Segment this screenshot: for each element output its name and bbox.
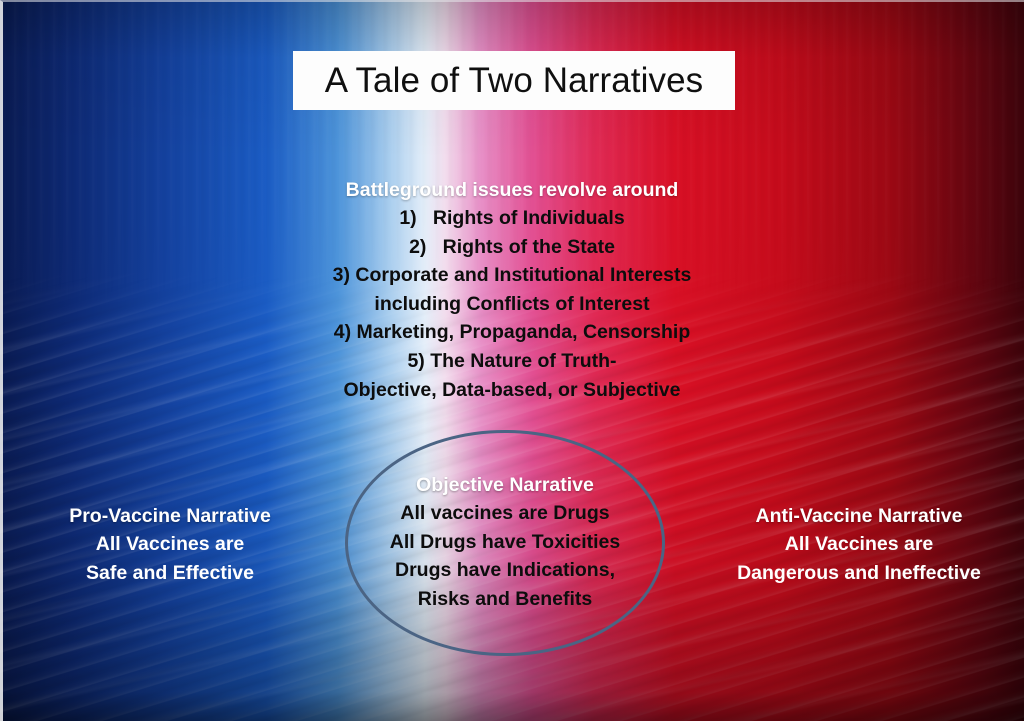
issue-line: 3) Corporate and Institutional Interests [262, 261, 762, 290]
objective-narrative-heading: Objective Narrative [355, 471, 655, 499]
title-banner: A Tale of Two Narratives [293, 51, 735, 110]
page-title: A Tale of Two Narratives [325, 61, 704, 101]
anti-vaccine-heading: Anti-Vaccine Narrative [700, 502, 1018, 530]
pro-vaccine-heading: Pro-Vaccine Narrative [14, 502, 326, 530]
objective-narrative-line: Risks and Benefits [355, 585, 655, 614]
pro-vaccine-line: All Vaccines are [14, 530, 326, 559]
objective-narrative-line: Drugs have Indications, [355, 556, 655, 585]
slide-canvas: A Tale of Two Narratives Battleground is… [0, 0, 1024, 721]
anti-vaccine-line: All Vaccines are [700, 530, 1018, 559]
issue-line: including Conflicts of Interest [262, 290, 762, 319]
battleground-issues-block: Battleground issues revolve around 1) Ri… [262, 176, 762, 404]
pro-vaccine-line: Safe and Effective [14, 559, 326, 588]
issue-line: 1) Rights of Individuals [262, 204, 762, 233]
objective-narrative-block: Objective Narrative All vaccines are Dru… [355, 471, 655, 613]
objective-narrative-line: All Drugs have Toxicities [355, 528, 655, 557]
anti-vaccine-narrative-block: Anti-Vaccine Narrative All Vaccines are … [700, 502, 1018, 587]
issue-line: 4) Marketing, Propaganda, Censorship [262, 318, 762, 347]
battleground-issues-heading: Battleground issues revolve around [262, 176, 762, 204]
issue-line: 2) Rights of the State [262, 233, 762, 262]
anti-vaccine-line: Dangerous and Ineffective [700, 559, 1018, 588]
objective-narrative-line: All vaccines are Drugs [355, 499, 655, 528]
issue-line: Objective, Data-based, or Subjective [262, 376, 762, 405]
issue-line: 5) The Nature of Truth- [262, 347, 762, 376]
pro-vaccine-narrative-block: Pro-Vaccine Narrative All Vaccines are S… [14, 502, 326, 587]
